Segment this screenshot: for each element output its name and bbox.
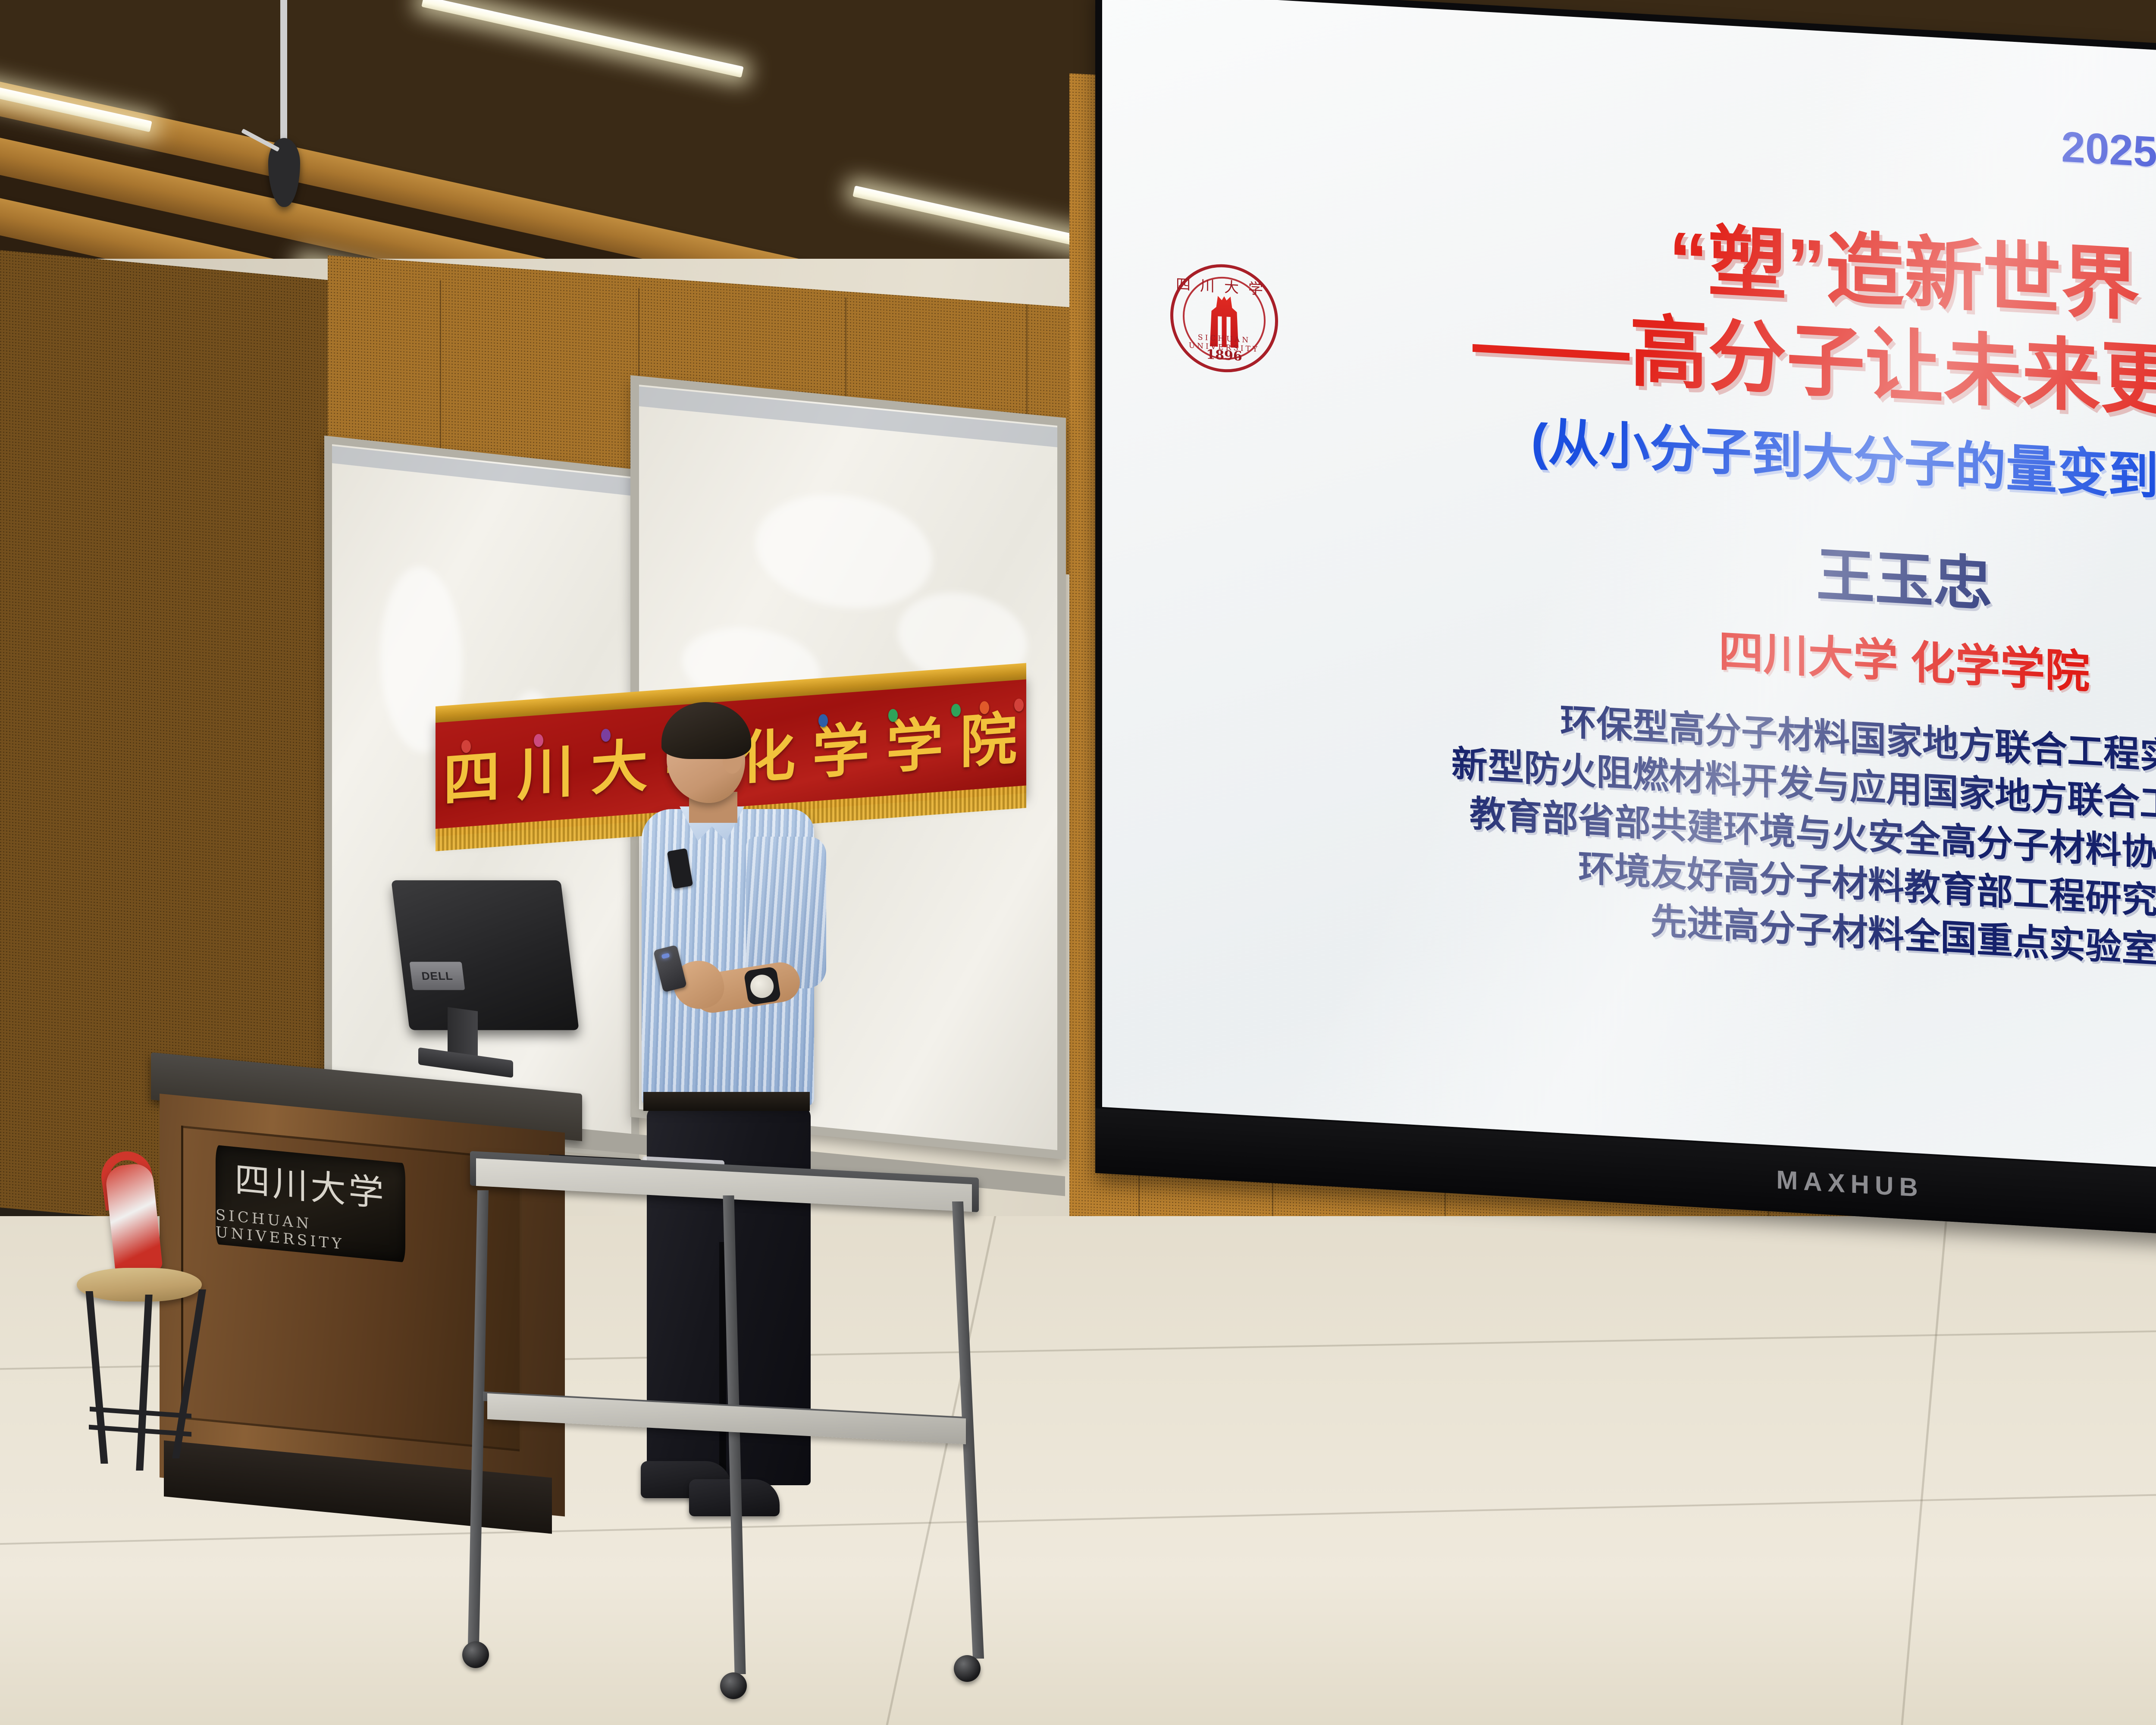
slide-header: 本科生讲座 2025年9月11日，江安校区 [2061, 63, 2156, 202]
lectern-monitor[interactable]: DELL [401, 880, 586, 1065]
banner-stud [461, 740, 471, 753]
banner-stud [888, 709, 898, 722]
cart-caster [462, 1641, 489, 1668]
lectern-plaque: 四川大学 SICHUAN UNIVERSITY [216, 1145, 405, 1262]
wooden-stool [77, 1268, 202, 1471]
ceiling-rod [280, 0, 287, 151]
dell-logo: DELL [410, 962, 465, 990]
stool-seat [77, 1268, 202, 1302]
banner-stud [1014, 699, 1024, 712]
cart-lower-shelf [487, 1393, 966, 1444]
wristwatch [743, 966, 781, 1006]
banner-stud [980, 701, 989, 714]
stool-leg [86, 1291, 108, 1464]
slide-header-line2: 2025年9月11日，江安校区 [2061, 120, 2156, 202]
presentation-display[interactable]: 本科生讲座 2025年9月11日，江安校区 四川大学 SICHUAN UNIVE… [1095, 0, 2156, 1259]
maxhub-logo: MAXHUB [1776, 1164, 1923, 1202]
cart-caster [954, 1655, 981, 1682]
rolling-cart [470, 1164, 979, 1721]
plaque-text-cn: 四川大学 [235, 1151, 386, 1217]
banner-stud [601, 729, 611, 742]
cart-caster [720, 1672, 747, 1699]
presenter-hair [661, 702, 751, 759]
slide-title-block: “塑”造新世界 ——高分子让未来更美好 (从小分子到大分子的量变到质变) 王玉忠… [1232, 187, 2156, 998]
banner-stud [951, 704, 961, 717]
banner-stud [534, 734, 543, 747]
lecture-hall-photo: 四 川 大 学 化 学 学 院 本科生讲座 2025年9月11日，江安校区 [0, 0, 2156, 1725]
banner-char: 院 [960, 692, 1018, 779]
presenter-belt [643, 1092, 810, 1111]
organization-list: 环保型高分子材料国家地方联合工程实验室 新型防火阻燃材料开发与应用国家地方联合工… [1232, 679, 2156, 998]
banner-char: 四 [443, 730, 502, 817]
monitor-rear-shell [391, 880, 579, 1030]
ceiling-light [852, 185, 1091, 249]
stool-leg [136, 1295, 152, 1471]
cart-leg [468, 1190, 489, 1647]
banner-char: 川 [517, 725, 576, 812]
monitor-brand-label: DELL [421, 969, 454, 983]
ceiling-light [421, 0, 744, 78]
cart-leg [723, 1195, 746, 1674]
slide-screen[interactable]: 本科生讲座 2025年9月11日，江安校区 四川大学 SICHUAN UNIVE… [1102, 0, 2156, 1192]
